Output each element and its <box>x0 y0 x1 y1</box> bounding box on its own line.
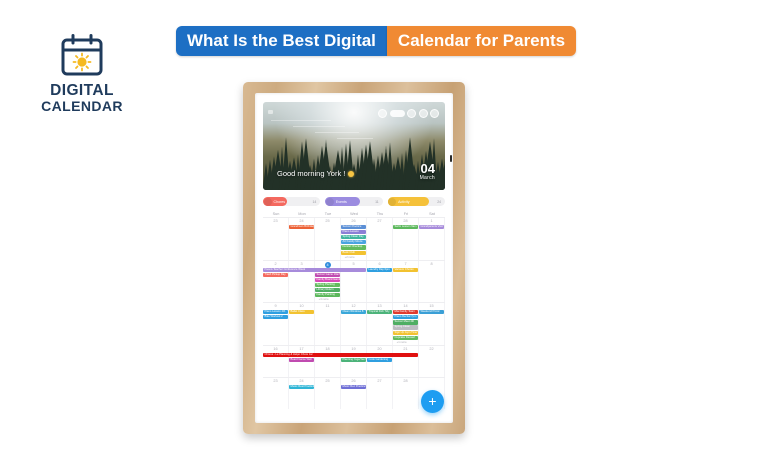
calendar-event-bar[interactable]: Cook Gardening <box>367 358 392 362</box>
progress-pill-dot-icon <box>326 198 334 206</box>
mist-ridge <box>293 126 345 127</box>
day-number: 16 <box>263 347 288 351</box>
hero-toolbar[interactable] <box>378 109 439 118</box>
calendar-day-cell[interactable]: 25 <box>315 218 341 260</box>
calendar-day-cell[interactable]: 21 <box>393 346 419 377</box>
add-event-fab[interactable]: + <box>421 390 444 413</box>
hero-date: 04 March <box>420 162 435 181</box>
calendar-week-row: 9101112131415Piano Lesson 4thBike Workou… <box>263 302 445 345</box>
camera-dot <box>450 155 452 162</box>
tablet-screen[interactable]: Good morning York ! 04 March Chores14Eve… <box>255 93 453 423</box>
mist-ridge <box>315 132 359 133</box>
day-number: 6 <box>367 262 392 266</box>
hero-month-name: March <box>420 175 435 181</box>
day-number: 28 <box>393 379 418 383</box>
hero-day-number: 04 <box>420 162 435 175</box>
day-number: 24 <box>289 219 314 223</box>
more-events-link[interactable]: +1 more <box>397 341 407 344</box>
progress-pill-dot-icon <box>264 198 272 206</box>
greeting-text: Good morning York ! <box>277 169 345 178</box>
calendar-event-bar[interactable]: Dentist Checkup <box>341 245 366 249</box>
day-number: 26 <box>341 219 366 223</box>
calendar-event-bar[interactable]: Parent-Teacher Conference Week <box>263 268 366 272</box>
tablet-device-frame: Good morning York ! 04 March Chores14Eve… <box>243 82 465 434</box>
calendar-day-cell[interactable]: 8 <box>419 261 445 303</box>
brand-logo: DIGITAL CALENDAR <box>36 34 128 113</box>
toolbar-circle-icon-3[interactable] <box>419 109 428 118</box>
progress-pill[interactable]: Events11 <box>325 197 382 206</box>
title-segment-orange: Calendar for Parents <box>387 26 576 56</box>
day-number: 5 <box>341 262 366 266</box>
calendar-event-bar[interactable]: Music Rest Practice <box>289 385 314 389</box>
day-number: 14 <box>393 304 418 308</box>
day-number: 25 <box>315 219 340 223</box>
day-number: 20 <box>367 347 392 351</box>
title-segment-blue: What Is the Best Digital <box>176 26 387 56</box>
calendar-event-bar[interactable]: Chores - Le Planning & Helpo Chore Jar <box>263 353 418 357</box>
calendar-event-bar[interactable]: Library Return <box>315 288 340 292</box>
toolbar-circle-icon[interactable] <box>378 109 387 118</box>
day-number: 26 <box>341 379 366 383</box>
calendar-week-row: 2345678Parent-Teacher Conference WeekTra… <box>263 260 445 303</box>
calendar-event-bar[interactable]: Cupcake Dessert <box>393 336 418 340</box>
calendar-event-bar[interactable]: Spring Clean <box>393 325 418 329</box>
calendar-day-cell[interactable]: 5 <box>341 261 367 303</box>
day-number: 12 <box>341 304 366 308</box>
calendar-sun-icon <box>59 34 105 78</box>
tree-shape <box>443 146 446 190</box>
more-events-link[interactable]: +2 more <box>345 256 355 259</box>
day-number: 2 <box>263 262 288 266</box>
progress-pill-label: Chores <box>274 200 286 204</box>
calendar-day-cell[interactable]: 16 <box>263 346 289 377</box>
calendar-event-bar[interactable]: Clean Windows 8 <box>341 310 366 314</box>
calendar-event-bar[interactable]: Ballet Class <box>289 310 314 314</box>
day-number: 24 <box>289 379 314 383</box>
day-number: 18 <box>315 347 340 351</box>
calendar-weeks[interactable]: 2324252627281Grandma's BirthdaySoccer Pr… <box>263 217 445 409</box>
progress-pill[interactable]: Chores14 <box>263 197 320 206</box>
calendar-event-bar[interactable]: Vacuum Chores <box>393 268 418 272</box>
page-title: What Is the Best Digital Calendar for Pa… <box>176 26 576 56</box>
toolbar-avatar-icon[interactable] <box>430 109 439 118</box>
calendar-day-cell[interactable]: 24 <box>289 378 315 409</box>
day-number: 19 <box>341 347 366 351</box>
logo-line-digital: DIGITAL <box>36 83 128 99</box>
day-number: 11 <box>315 304 340 308</box>
progress-pill-label: Activity <box>398 200 409 204</box>
day-number: 15 <box>419 304 444 308</box>
calendar-event-bar[interactable]: Spring Clean Day <box>341 235 366 239</box>
day-number: 7 <box>393 262 418 266</box>
calendar-week-row: 16171819202122Chores - Le Planning & Hel… <box>263 345 445 377</box>
day-number: 28 <box>393 219 418 223</box>
calendar-day-cell[interactable]: 7 <box>393 261 419 303</box>
day-number: 22 <box>419 347 444 351</box>
sun-emoji-icon <box>348 171 354 177</box>
calendar-event-bar[interactable]: Grandma's Birthday <box>289 225 314 229</box>
progress-pill-count: 11 <box>375 200 379 204</box>
calendar-day-cell[interactable]: 3 <box>289 261 315 303</box>
calendar-week-row: 2324252627281Grandma's BirthdaySoccer Pr… <box>263 217 445 260</box>
calendar-day-cell[interactable]: 6 <box>367 261 393 303</box>
calendar-day-cell[interactable]: 2 <box>263 261 289 303</box>
calendar-event-bar[interactable]: Piano Recital 7pm <box>393 315 418 319</box>
calendar-event-bar[interactable]: Swim Lesson 9am <box>393 225 418 229</box>
more-events-link[interactable]: +3 more <box>319 298 329 301</box>
calendar-event-bar[interactable]: Family Board Game <box>315 278 340 282</box>
day-number: 21 <box>393 347 418 351</box>
day-number: 17 <box>289 347 314 351</box>
calendar-event-bar[interactable]: Planning Yoga 5am <box>341 358 366 362</box>
calendar-event-bar[interactable]: Grandparents Visit <box>419 225 444 229</box>
calendar-event-bar[interactable]: Sign Up Gym Time <box>393 331 418 335</box>
day-number: 1 <box>419 219 444 223</box>
progress-pill-label: Events <box>336 200 347 204</box>
calendar-day-cell[interactable]: 18 <box>315 346 341 377</box>
day-number: 23 <box>263 379 288 383</box>
calendar-day-cell[interactable]: 27 <box>367 218 393 260</box>
mist-ridge <box>337 138 373 139</box>
calendar-day-cell[interactable]: 25 <box>315 378 341 409</box>
day-number: 23 <box>263 219 288 223</box>
calendar-event-bar[interactable]: Soccer Meet 4th <box>393 320 418 324</box>
day-number: 3 <box>289 262 314 266</box>
calendar-day-cell[interactable]: 26 <box>341 378 367 409</box>
calendar-event-bar[interactable]: Piano Lesson 4th <box>263 310 288 314</box>
day-number: 25 <box>315 379 340 383</box>
progress-pill[interactable]: Activity24 <box>388 197 445 206</box>
calendar-event-bar[interactable]: Bike Workout 2 <box>263 315 288 319</box>
hero-banner: Good morning York ! 04 March <box>263 102 445 190</box>
calendar-event-bar[interactable]: Laundry Day 6pm <box>367 268 392 272</box>
day-number: 10 <box>289 304 314 308</box>
calendar-event-bar[interactable]: Piano Lesson <box>341 230 366 234</box>
hero-badge-icon <box>268 110 273 114</box>
day-number: 4 <box>325 262 331 268</box>
calendar-day-cell[interactable]: 22 <box>419 346 445 377</box>
calendar-event-bar[interactable]: Trash Pickup Day <box>263 273 288 277</box>
calendar-event-bar[interactable]: Weekend Picnic <box>419 310 444 314</box>
calendar-event-bar[interactable]: Book Club <box>341 251 366 255</box>
toolbar-circle-icon-2[interactable] <box>407 109 416 118</box>
calendar-event-bar[interactable]: Mia Family Team <box>393 310 418 314</box>
calendar-event-bar[interactable]: Family Painting <box>315 293 340 297</box>
calendar-event-bar[interactable]: Soccer Practice <box>341 225 366 229</box>
calendar-week-row: 232425262728Music Rest PracticeMusic Rec… <box>263 377 445 409</box>
calendar-event-bar[interactable]: Spring Planting <box>315 283 340 287</box>
progress-pill-dot-icon <box>388 198 396 206</box>
calendar-month-grid[interactable]: SunMonTueWedThuFriSat 2324252627281Grand… <box>263 212 445 409</box>
calendar-event-bar[interactable]: Soccer Game 10am <box>315 273 340 277</box>
calendar-day-cell[interactable]: 28 <box>393 378 419 409</box>
calendar-event-bar[interactable]: Tropical Fish Tidy <box>367 310 392 314</box>
calendar-day-cell[interactable]: 11 <box>315 303 341 345</box>
toolbar-search-pill[interactable] <box>390 110 405 117</box>
day-number: 27 <box>367 379 392 383</box>
mist-ridge <box>271 120 331 121</box>
category-progress-pills: Chores14Events11Activity24 <box>263 197 445 206</box>
calendar-event-bar[interactable]: Board Game Well <box>289 358 314 362</box>
day-number: 13 <box>367 304 392 308</box>
greeting-text-wrap: Good morning York ! <box>277 169 354 178</box>
calendar-day-cell[interactable]: 23 <box>263 218 289 260</box>
calendar-day-cell[interactable]: 27 <box>367 378 393 409</box>
day-number: 8 <box>419 262 444 266</box>
day-number: 27 <box>367 219 392 223</box>
calendar-event-bar[interactable]: Music Rec Practice <box>341 385 366 389</box>
logo-line-calendar: CALENDAR <box>36 99 128 113</box>
progress-pill-count: 14 <box>313 200 317 204</box>
progress-pill-count: 24 <box>437 200 441 204</box>
day-number: 9 <box>263 304 288 308</box>
calendar-event-bar[interactable]: Art Family Movie <box>341 240 366 244</box>
calendar-day-cell[interactable]: 23 <box>263 378 289 409</box>
